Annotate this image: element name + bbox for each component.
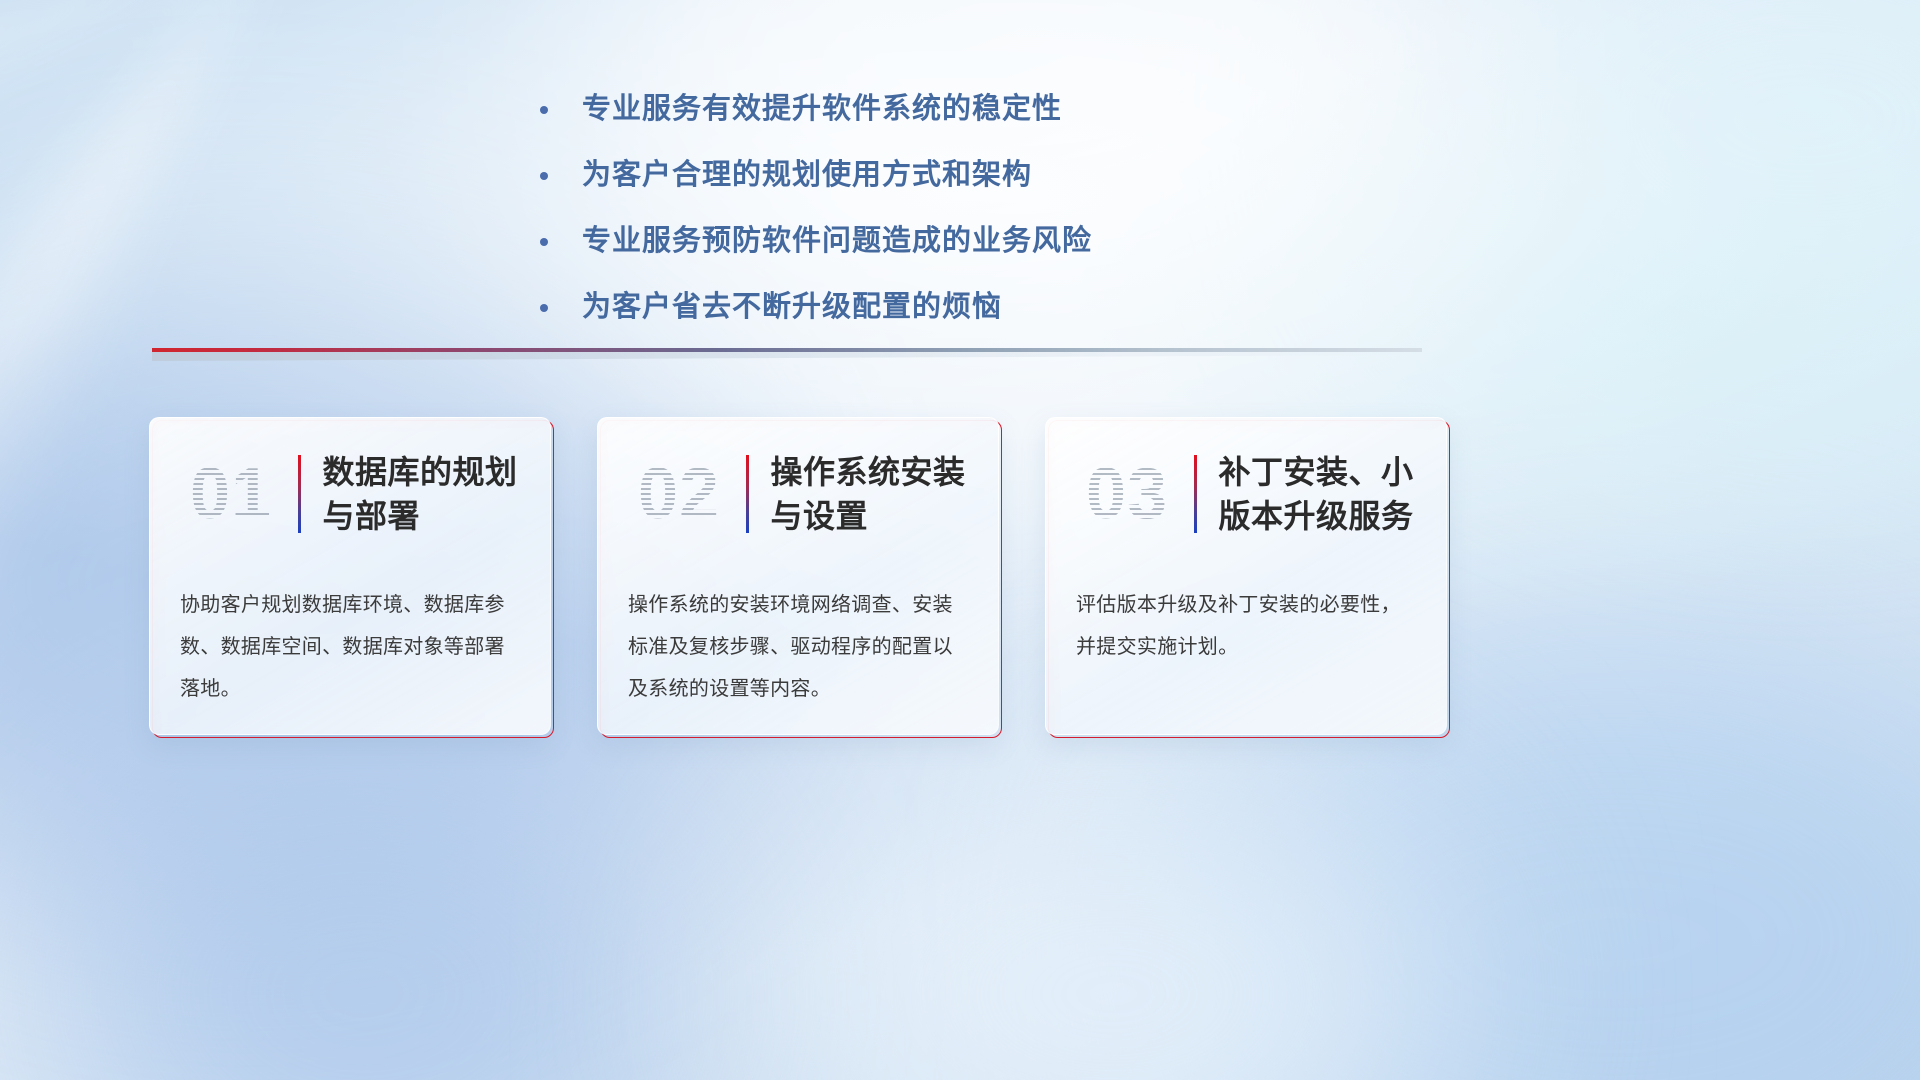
list-item: 专业服务预防软件问题造成的业务风险 xyxy=(540,220,1092,262)
card-number: 03 xyxy=(1062,438,1192,550)
list-item: 专业服务有效提升软件系统的稳定性 xyxy=(540,88,1092,130)
bullet-text: 专业服务有效提升软件系统的稳定性 xyxy=(582,88,1062,130)
card-surface: 02 操作系统安装与设置 操作系统的安装环境网络调查、安装标准及复核步骤、驱动程… xyxy=(597,417,999,735)
bullet-dot-icon xyxy=(540,238,548,246)
benefits-bullet-list: 专业服务有效提升软件系统的稳定性 为客户合理的规划使用方式和架构 专业服务预防软… xyxy=(540,88,1092,352)
card-number: 02 xyxy=(614,438,744,550)
service-card-grid: 01 数据库的规划与部署 协助客户规划数据库环境、数据库参数、数据库空间、数据库… xyxy=(152,420,1452,750)
card-header: 02 操作系统安装与设置 xyxy=(598,434,998,554)
card-header: 01 数据库的规划与部署 xyxy=(150,434,550,554)
card-surface: 01 数据库的规划与部署 协助客户规划数据库环境、数据库参数、数据库空间、数据库… xyxy=(149,417,551,735)
service-card-01[interactable]: 01 数据库的规划与部署 协助客户规划数据库环境、数据库参数、数据库空间、数据库… xyxy=(152,420,554,738)
bullet-dot-icon xyxy=(540,172,548,180)
card-body-text: 协助客户规划数据库环境、数据库参数、数据库空间、数据库对象等部署落地。 xyxy=(180,584,524,710)
service-card-03[interactable]: 03 补丁安装、小版本升级服务 评估版本升级及补丁安装的必要性，并提交实施计划。 xyxy=(1048,420,1450,738)
card-title: 补丁安装、小版本升级服务 xyxy=(1219,450,1447,538)
card-title: 操作系统安装与设置 xyxy=(771,450,999,538)
divider-accent-line xyxy=(152,348,1422,352)
section-divider xyxy=(152,348,1422,362)
card-divider-rule xyxy=(298,455,301,533)
bullet-text: 为客户省去不断升级配置的烦恼 xyxy=(582,286,1002,328)
card-header: 03 补丁安装、小版本升级服务 xyxy=(1046,434,1446,554)
card-title: 数据库的规划与部署 xyxy=(323,450,551,538)
list-item: 为客户合理的规划使用方式和架构 xyxy=(540,154,1092,196)
bullet-dot-icon xyxy=(540,304,548,312)
service-card-02[interactable]: 02 操作系统安装与设置 操作系统的安装环境网络调查、安装标准及复核步骤、驱动程… xyxy=(600,420,1002,738)
card-body-text: 操作系统的安装环境网络调查、安装标准及复核步骤、驱动程序的配置以及系统的设置等内… xyxy=(628,584,972,710)
card-divider-rule xyxy=(746,455,749,533)
card-number: 01 xyxy=(166,438,296,550)
list-item: 为客户省去不断升级配置的烦恼 xyxy=(540,286,1092,328)
divider-shadow-wedge xyxy=(152,352,1422,361)
bullet-dot-icon xyxy=(540,106,548,114)
card-surface: 03 补丁安装、小版本升级服务 评估版本升级及补丁安装的必要性，并提交实施计划。 xyxy=(1045,417,1447,735)
card-body-text: 评估版本升级及补丁安装的必要性，并提交实施计划。 xyxy=(1076,584,1420,668)
card-divider-rule xyxy=(1194,455,1197,533)
bullet-text: 为客户合理的规划使用方式和架构 xyxy=(582,154,1032,196)
bullet-text: 专业服务预防软件问题造成的业务风险 xyxy=(582,220,1092,262)
